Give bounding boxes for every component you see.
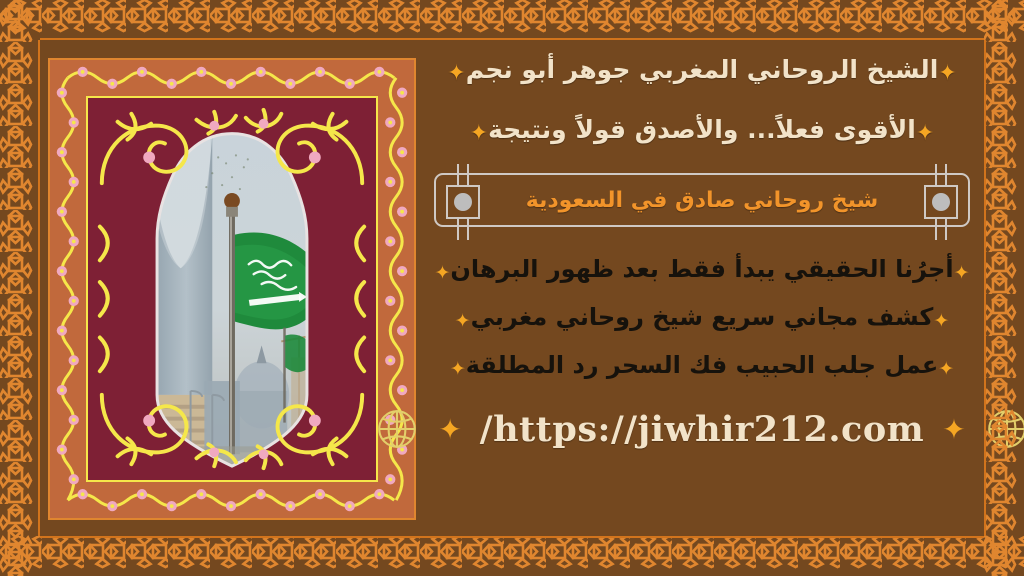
website-url[interactable]: /https://jiwhir212.com (480, 409, 924, 450)
headline-primary: ✦الشيخ الروحاني المغربي جوهر أبو نجم✦ (428, 54, 976, 88)
poster-canvas: ✦الشيخ الروحاني المغربي جوهر أبو نجم✦ ✦ا… (0, 0, 1024, 576)
headline-primary-text: الشيخ الروحاني المغربي جوهر أبو نجم (466, 55, 939, 84)
sparkle-icon: ✦ (450, 358, 466, 380)
arabesque-scroll-ornament (88, 98, 376, 480)
border-rule-bottom (40, 536, 984, 538)
sparkle-icon: ✦ (938, 358, 954, 380)
sparkle-icon: ✦ (954, 262, 970, 284)
sparkle-icon: ✦ (942, 413, 965, 446)
border-pattern-left (0, 0, 40, 576)
list-item: ✦كشف مجاني سريع شيخ روحاني مغربي✦ (428, 303, 976, 333)
bullet-list: ✦أجرُنا الحقيقي يبدأ فقط بعد ظهور البرها… (428, 255, 976, 398)
headline-secondary: ✦الأقوى فعلاً... والأصدق قولاً ونتيجة✦ (428, 114, 976, 148)
banner-text: شيخ روحاني صادق في السعودية (436, 175, 968, 225)
sparkle-icon: ✦ (438, 413, 461, 446)
list-item-text: عمل جلب الحبيب فك السحر رد المطلقة (466, 351, 939, 379)
sparkle-icon: ✦ (455, 310, 471, 332)
globe-icon (984, 406, 1024, 452)
sparkle-icon: ✦ (447, 61, 465, 86)
border-pattern-right (984, 0, 1024, 576)
list-item: ✦أجرُنا الحقيقي يبدأ فقط بعد ظهور البرها… (428, 255, 976, 285)
border-pattern-top (0, 0, 1024, 40)
sparkle-icon: ✦ (470, 121, 488, 146)
picture-frame (48, 58, 416, 520)
sparkle-icon: ✦ (933, 310, 949, 332)
globe-icon (374, 406, 420, 452)
list-item-text: كشف مجاني سريع شيخ روحاني مغربي (471, 303, 934, 331)
sparkle-icon: ✦ (434, 262, 450, 284)
frame-inner-panel (86, 96, 378, 482)
list-item-text: أجرُنا الحقيقي يبدأ فقط بعد ظهور البرهان (450, 255, 953, 283)
border-rule-left (38, 40, 40, 536)
sparkle-icon: ✦ (916, 121, 934, 146)
headline-secondary-text: الأقوى فعلاً... والأصدق قولاً ونتيجة (488, 115, 916, 144)
border-pattern-bottom (0, 536, 1024, 576)
list-item: ✦عمل جلب الحبيب فك السحر رد المطلقة✦ (428, 351, 976, 381)
text-column: ✦الشيخ الروحاني المغربي جوهر أبو نجم✦ ✦ا… (428, 40, 976, 536)
sparkle-icon: ✦ (938, 61, 956, 86)
border-rule-right (984, 40, 986, 536)
service-banner: شيخ روحاني صادق في السعودية (434, 173, 970, 227)
website-row[interactable]: ✦ /https://jiwhir212.com ✦ (428, 406, 976, 452)
